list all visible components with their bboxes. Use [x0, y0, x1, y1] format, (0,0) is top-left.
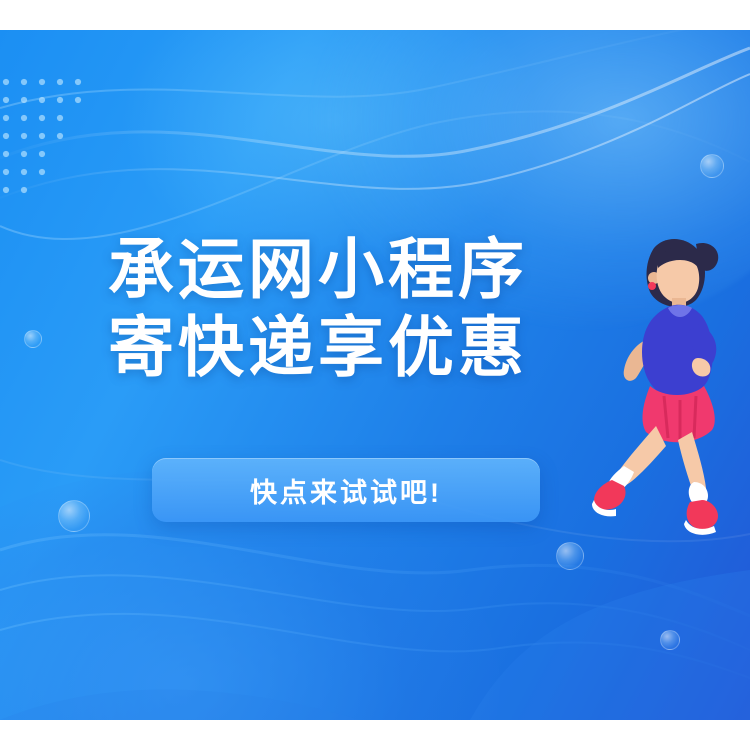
- running-girl-illustration: [580, 220, 750, 540]
- cta-button-label: 快点来试试吧!: [250, 471, 442, 510]
- headline-line-2: 寄快递享优惠: [108, 308, 628, 386]
- bubble-decor: [556, 542, 584, 570]
- headline-block: 承运网小程序 寄快递享优惠: [108, 230, 628, 386]
- headline-line-1: 承运网小程序: [108, 230, 628, 308]
- cta-button[interactable]: 快点来试试吧!: [152, 458, 540, 522]
- bubble-decor: [700, 154, 724, 178]
- banner-canvas: 承运网小程序 寄快递享优惠 快点来试试吧!: [0, 30, 750, 720]
- promo-banner-root: 承运网小程序 寄快递享优惠 快点来试试吧!: [0, 0, 750, 750]
- bubble-decor: [58, 500, 90, 532]
- bubble-decor: [660, 630, 680, 650]
- top-white-strip: [0, 0, 750, 30]
- dot-grid-icon: [0, 76, 96, 204]
- bubble-decor: [24, 330, 42, 348]
- bottom-white-strip: [0, 720, 750, 750]
